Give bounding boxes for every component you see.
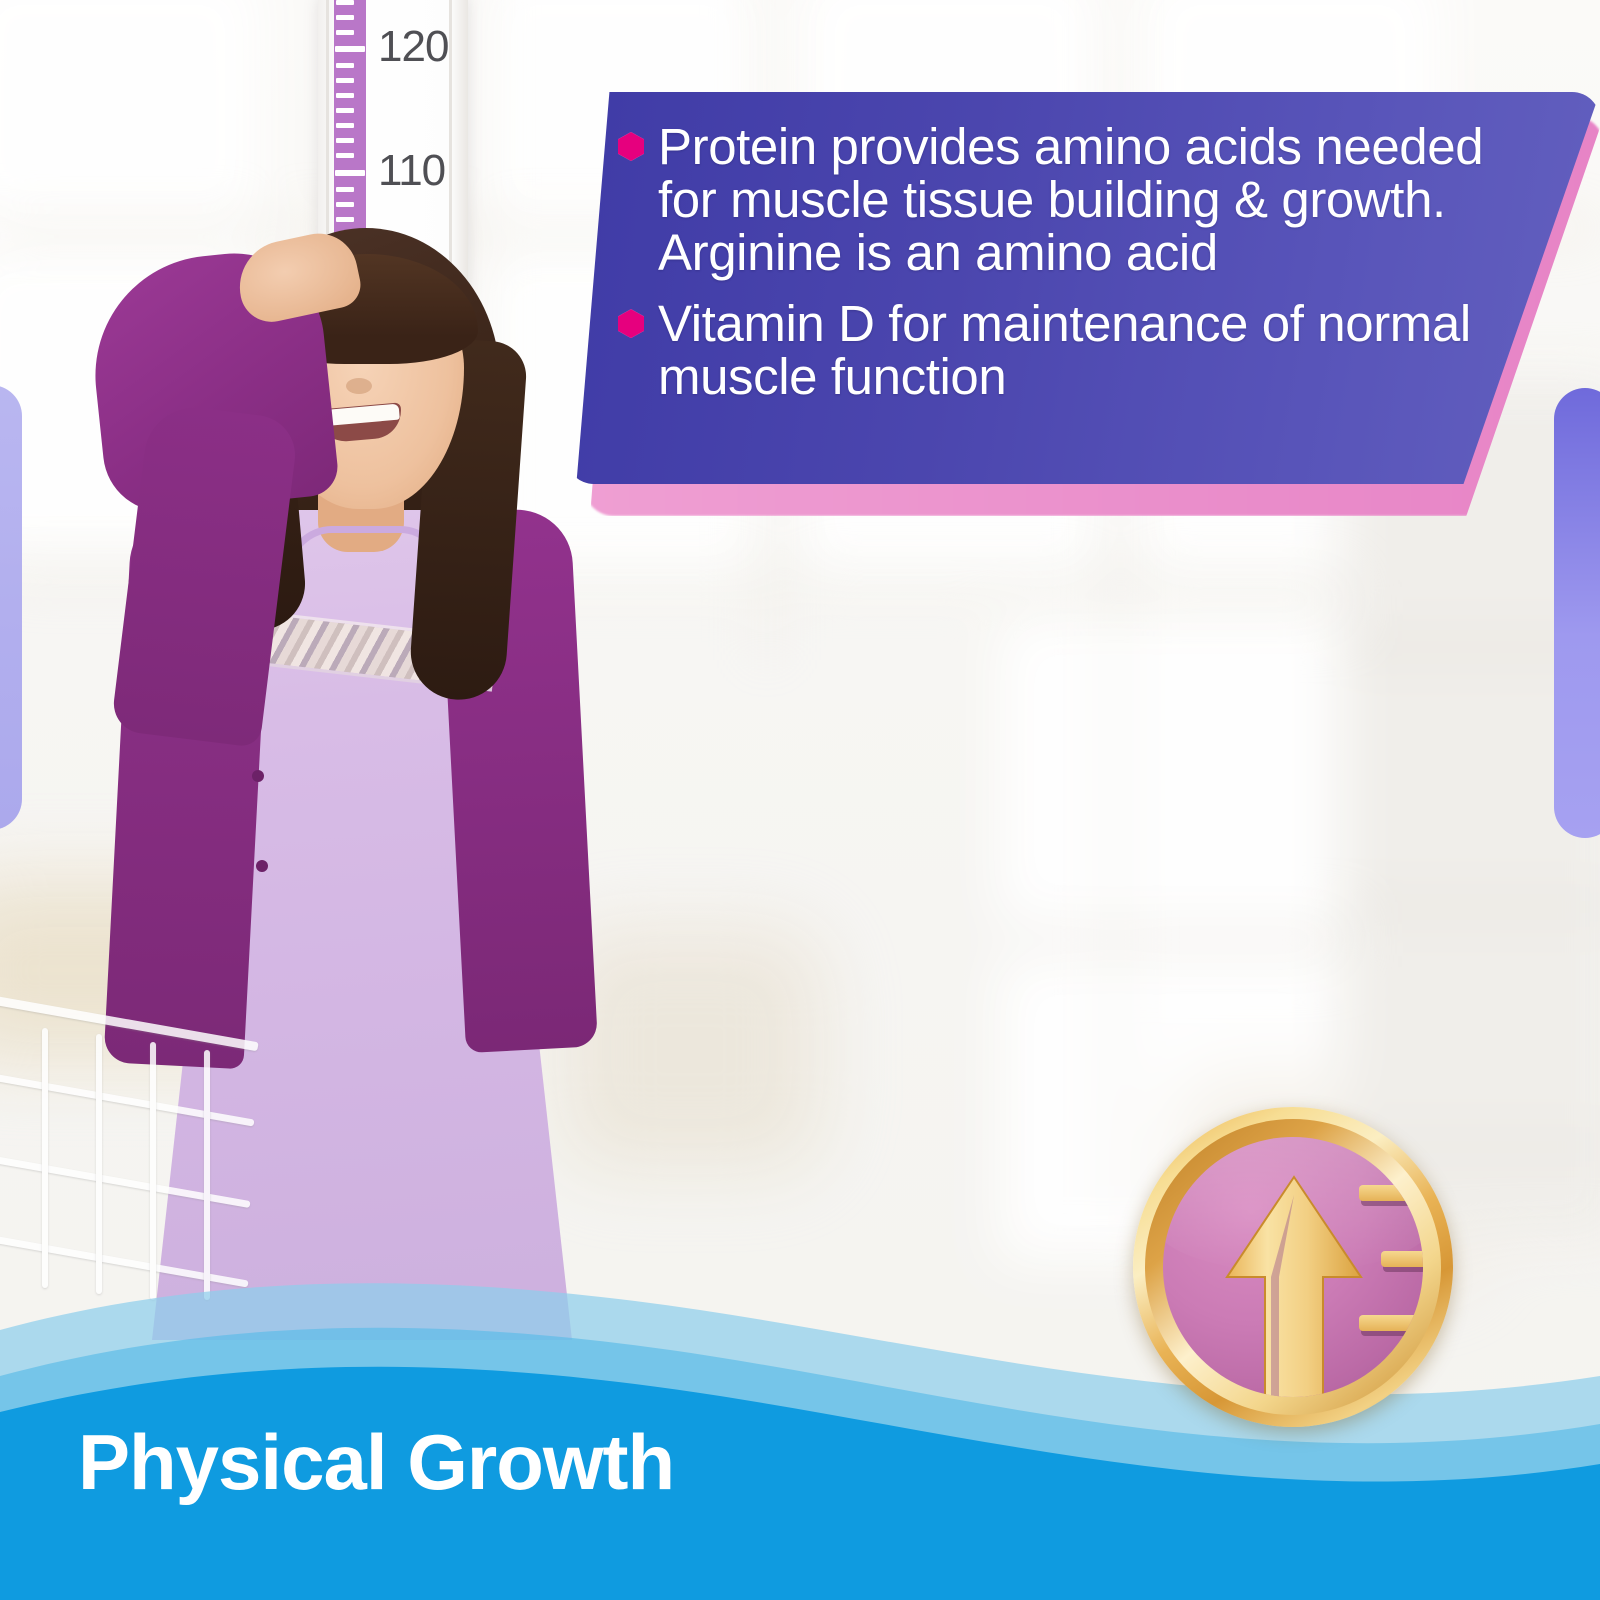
left-rounded-accent-bar — [0, 385, 22, 830]
ruler-tick — [1359, 1185, 1423, 1201]
card-body: Protein provides amino acids needed for … — [566, 92, 1600, 484]
badge-face — [1163, 1137, 1423, 1397]
ruler-ticks-group — [1359, 1185, 1423, 1397]
cardigan-button — [256, 860, 268, 872]
list-item: Vitamin D for maintenance of normal musc… — [618, 297, 1554, 403]
ruler-tick — [1381, 1377, 1423, 1393]
up-arrow-icon — [1219, 1173, 1369, 1397]
hexagon-bullet-icon — [618, 132, 644, 161]
ruler-tick — [1359, 1315, 1423, 1331]
ruler-tick — [1381, 1251, 1423, 1267]
hexagon-bullet-icon — [618, 309, 644, 338]
nose — [346, 378, 372, 394]
benefits-callout-card: Protein provides amino acids needed for … — [566, 92, 1600, 512]
list-item: Protein provides amino acids needed for … — [618, 120, 1554, 279]
ruler-label-110: 110 — [378, 146, 445, 196]
ruler-label-120: 120 — [378, 22, 448, 72]
benefit-text: Protein provides amino acids needed for … — [658, 120, 1554, 279]
page-title: Physical Growth — [78, 1417, 674, 1508]
benefits-list: Protein provides amino acids needed for … — [618, 120, 1554, 403]
infographic-slide: 120 110 — [0, 0, 1600, 1600]
benefit-text: Vitamin D for maintenance of normal musc… — [658, 297, 1554, 403]
growth-arrow-ruler-icon — [1133, 1107, 1453, 1427]
cardigan-button — [252, 770, 264, 782]
